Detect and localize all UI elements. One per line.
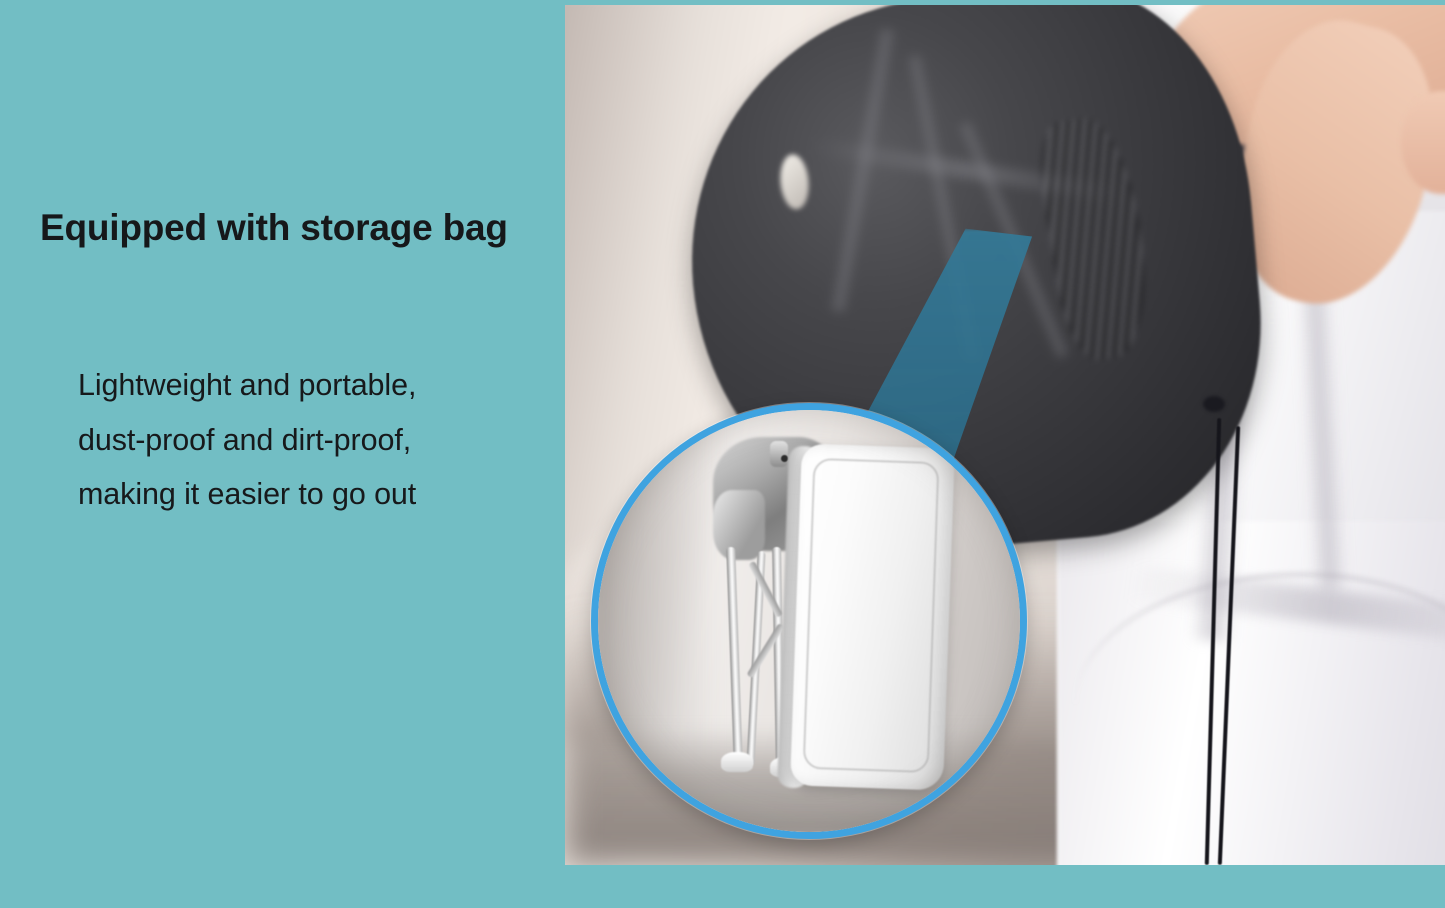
text-panel: Equipped with storage bag Lightweight an… xyxy=(0,0,565,908)
description-text: Lightweight and portable, dust-proof and… xyxy=(78,358,518,522)
stool-seat-panel xyxy=(790,443,955,790)
description-line-1: Lightweight and portable, xyxy=(78,358,518,413)
product-photo xyxy=(565,5,1445,865)
bag-highlight xyxy=(778,154,811,211)
promo-image-root: Equipped with storage bag Lightweight an… xyxy=(0,0,1445,908)
stool-foot xyxy=(721,752,753,772)
page-title: Equipped with storage bag xyxy=(40,207,550,250)
bag-crease xyxy=(828,28,897,313)
magnified-contents-circle xyxy=(591,403,1027,839)
description-line-3: making it easier to go out xyxy=(78,467,518,522)
description-line-2: dust-proof and dirt-proof, xyxy=(78,413,518,468)
stool-seat-panel-outline xyxy=(803,457,939,772)
inset-scene xyxy=(591,403,1027,839)
stool-frame-clip xyxy=(713,490,766,560)
stool-frame-screw xyxy=(781,455,788,462)
photo-scene xyxy=(565,5,1445,865)
